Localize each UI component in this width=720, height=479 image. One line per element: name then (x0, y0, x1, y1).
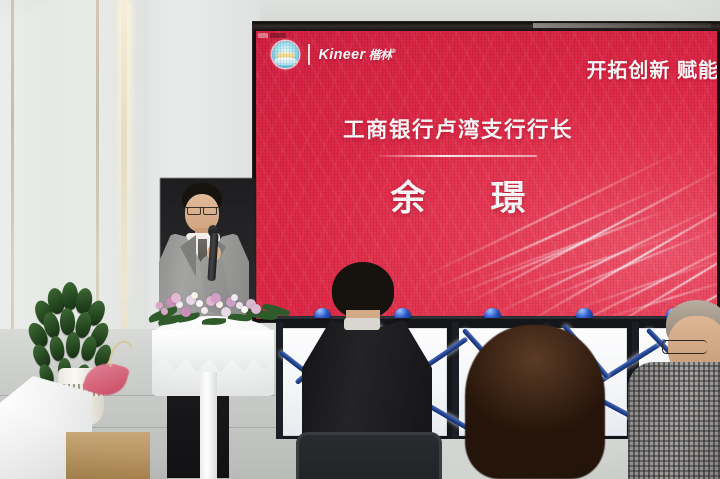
plant-leaf (66, 332, 81, 358)
flower-bloom (171, 293, 181, 303)
flower-bloom (161, 308, 168, 315)
flower-bloom (181, 307, 191, 317)
glasses-lens-right (203, 207, 217, 215)
glasses-lens-left (187, 207, 201, 215)
audience-center-figure (455, 325, 615, 479)
audience-left-figure (300, 262, 440, 479)
flower-bloom (191, 292, 198, 299)
flower-bloom (211, 293, 221, 303)
flower-bloom (201, 307, 208, 314)
office-chair-back (296, 432, 442, 479)
flower-bloom (196, 300, 203, 307)
blue-dome-light (576, 308, 593, 318)
screen-top-frame (253, 22, 720, 31)
flower-bloom (251, 304, 261, 314)
audience-right-glasses-icon (662, 340, 707, 354)
flower-arrangement (150, 290, 282, 330)
presentation-photo-scene: Kineer楷林® 开拓创新 赋能 工商银行卢湾支行行长 余 璟 (0, 0, 720, 479)
blue-dome-light (484, 308, 501, 318)
audience-left-collar (344, 318, 380, 330)
panel-frame (276, 322, 283, 439)
flower-bloom (231, 294, 238, 301)
audience-center-hair (465, 325, 605, 479)
audience-right-figure (630, 300, 720, 479)
wooden-stand (66, 432, 150, 479)
podium-stem (200, 372, 217, 479)
flower-bloom (241, 306, 248, 313)
foliage-leaf (202, 318, 226, 326)
audience-right-blazer (628, 362, 720, 479)
flower-bloom (221, 307, 231, 317)
